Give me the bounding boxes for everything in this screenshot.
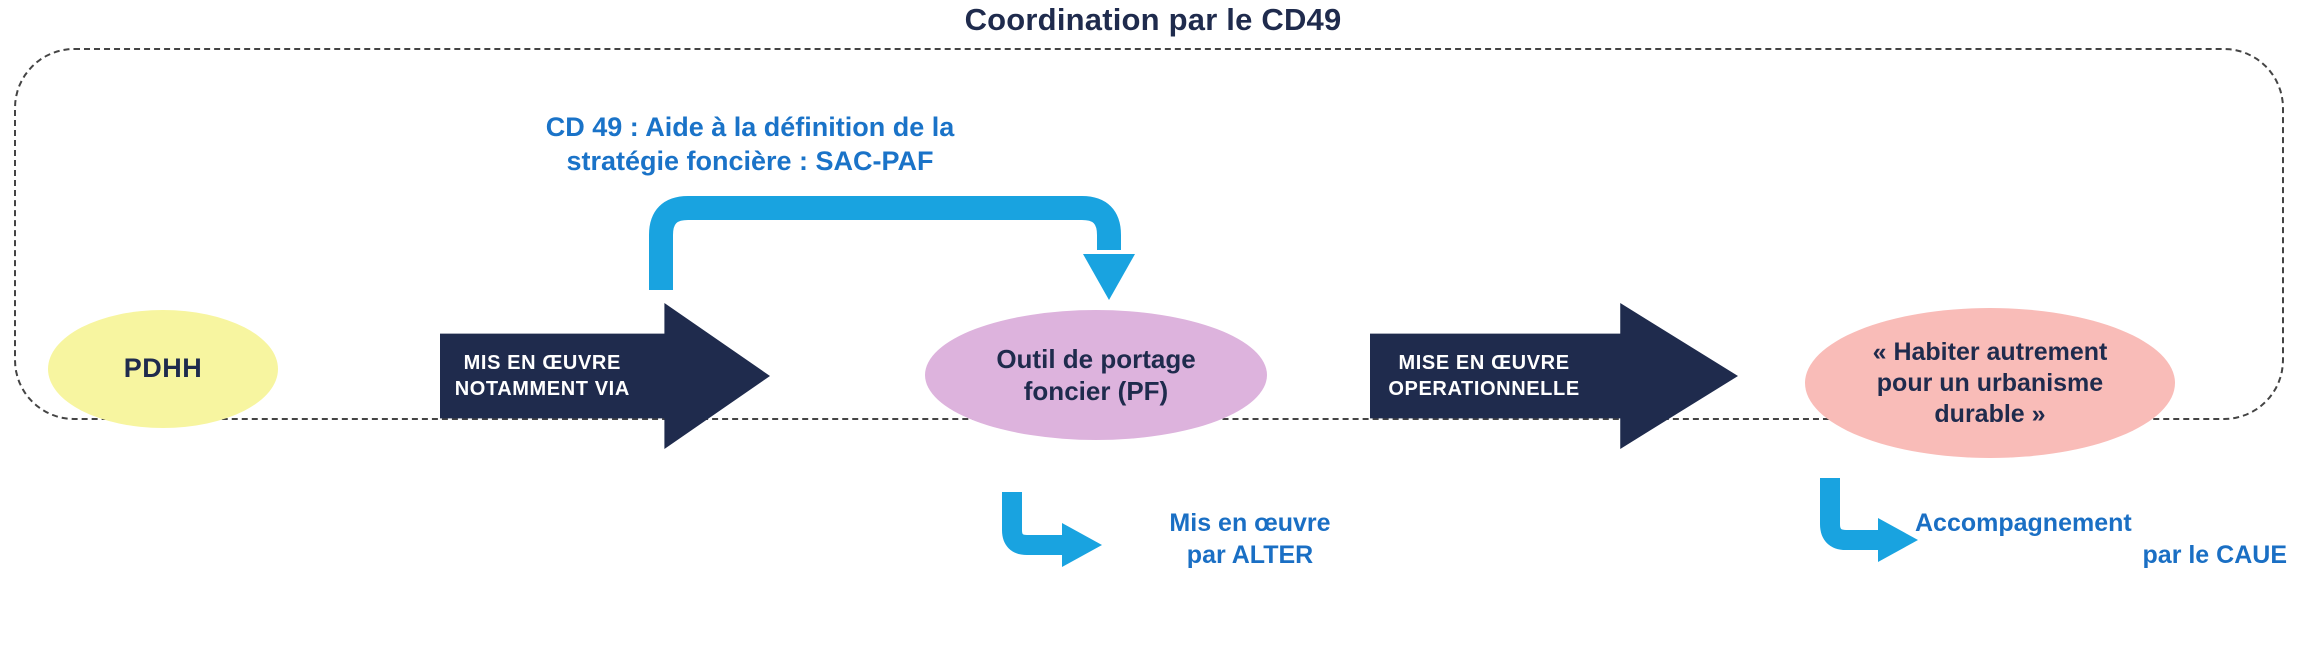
elbow-arrow-caue-icon [1830, 478, 1918, 562]
node-portage-foncier[interactable]: Outil de portage foncier (PF) [925, 310, 1267, 440]
node-portage-foncier-line2: foncier (PF) [1024, 376, 1168, 406]
annotation-cd49-aide: CD 49 : Aide à la définition de la strat… [380, 110, 1120, 178]
annotation-caue-line2: par le CAUE [1915, 540, 2305, 572]
diagram-canvas: Coordination par le CD49 CD 49 : Aide à … [0, 0, 2306, 650]
arrow-mise-en-oeuvre-operationnelle-label: MISE EN ŒUVRE OPERATIONNELLE [1370, 350, 1598, 402]
annotation-caue: Accompagnement par le CAUE [1915, 508, 2305, 571]
node-portage-foncier-label: Outil de portage foncier (PF) [996, 343, 1195, 407]
annotation-caue-line1: Accompagnement [1915, 508, 2305, 540]
node-habiter-autrement-label: « Habiter autrement pour un urbanisme du… [1873, 337, 2108, 430]
arrow-mise-en-oeuvre-operationnelle-line2: OPERATIONNELLE [1388, 378, 1579, 400]
node-portage-foncier-line1: Outil de portage [996, 344, 1195, 374]
annotation-alter-line2: par ALTER [1100, 540, 1400, 572]
node-pdhh[interactable]: PDHH [48, 310, 278, 428]
node-habiter-autrement-line1: « Habiter autrement [1873, 338, 2108, 366]
node-habiter-autrement-line2: pour un urbanisme [1877, 369, 2103, 397]
arrow-mise-en-oeuvre-operationnelle-line1: MISE EN ŒUVRE [1398, 352, 1569, 374]
annotation-cd49-aide-line1: CD 49 : Aide à la définition de la [380, 110, 1120, 144]
node-habiter-autrement[interactable]: « Habiter autrement pour un urbanisme du… [1805, 308, 2175, 458]
node-pdhh-label: PDHH [124, 352, 203, 385]
page-title: Coordination par le CD49 [0, 2, 2306, 38]
node-habiter-autrement-line3: durable » [1934, 400, 2045, 428]
arrow-mis-en-oeuvre-line2: NOTAMMENT VIA [455, 378, 630, 400]
arrow-mis-en-oeuvre-line1: MIS EN ŒUVRE [464, 352, 621, 374]
annotation-cd49-aide-line2: stratégie foncière : SAC-PAF [380, 144, 1120, 178]
arrow-mis-en-oeuvre-label: MIS EN ŒUVRE NOTAMMENT VIA [440, 350, 645, 402]
annotation-alter: Mis en œuvre par ALTER [1100, 508, 1400, 571]
annotation-alter-line1: Mis en œuvre [1100, 508, 1400, 540]
elbow-arrow-alter-icon [1012, 492, 1102, 567]
